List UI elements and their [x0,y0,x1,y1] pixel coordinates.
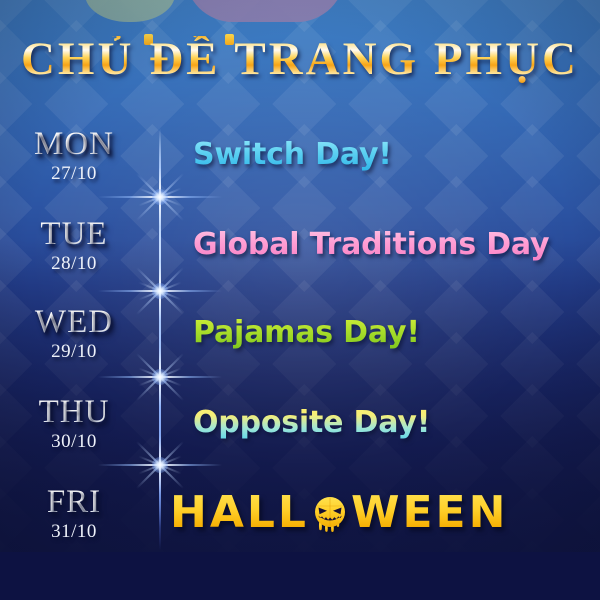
day-cell-mon: MON 27/10 [0,128,148,183]
day-date-thu: 30/10 [0,432,148,451]
day-date-tue: 28/10 [0,254,148,273]
day-cell-fri: FRI 31/10 [0,486,148,541]
day-date-fri: 31/10 [0,522,148,541]
event-cell-wed: Pajamas Day! [148,318,600,348]
day-name-tue: TUE [0,218,148,251]
jack-o-lantern-icon [310,493,350,533]
day-name-fri: FRI [0,486,148,519]
event-cell-mon: Switch Day! [148,140,600,170]
bottom-fill [0,552,600,600]
day-date-mon: 27/10 [0,164,148,183]
schedule-row-fri: FRI 31/10 HALL [0,478,600,548]
day-date-wed: 29/10 [0,342,148,361]
event-label-mon: Switch Day! [193,137,392,172]
schedule-row-thu: THU 30/10 Opposite Day! [0,388,600,458]
schedule-list: MON 27/10 Switch Day! TUE 28/10 Global T… [0,0,600,600]
day-cell-thu: THU 30/10 [0,396,148,451]
event-cell-thu: Opposite Day! [148,408,600,438]
day-cell-tue: TUE 28/10 [0,218,148,273]
schedule-row-wed: WED 29/10 Pajamas Day! [0,298,600,368]
event-label-thu: Opposite Day! [193,405,430,440]
day-name-thu: THU [0,396,148,429]
event-cell-fri: HALL [148,491,600,535]
day-cell-wed: WED 29/10 [0,306,148,361]
event-cell-tue: Global Traditions Day [148,230,600,260]
day-name-mon: MON [0,128,148,161]
event-label-tue: Global Traditions Day [193,227,549,262]
day-name-wed: WED [0,306,148,339]
halloween-word-left: HALL [170,491,309,535]
schedule-row-tue: TUE 28/10 Global Traditions Day [0,210,600,280]
schedule-row-mon: MON 27/10 Switch Day! [0,120,600,190]
poster-canvas: CHỦ ĐỀ TRANG PHỤC MON 27/10 Sw [0,0,600,600]
halloween-word-right: WEEN [351,491,508,535]
event-label-wed: Pajamas Day! [193,315,420,350]
